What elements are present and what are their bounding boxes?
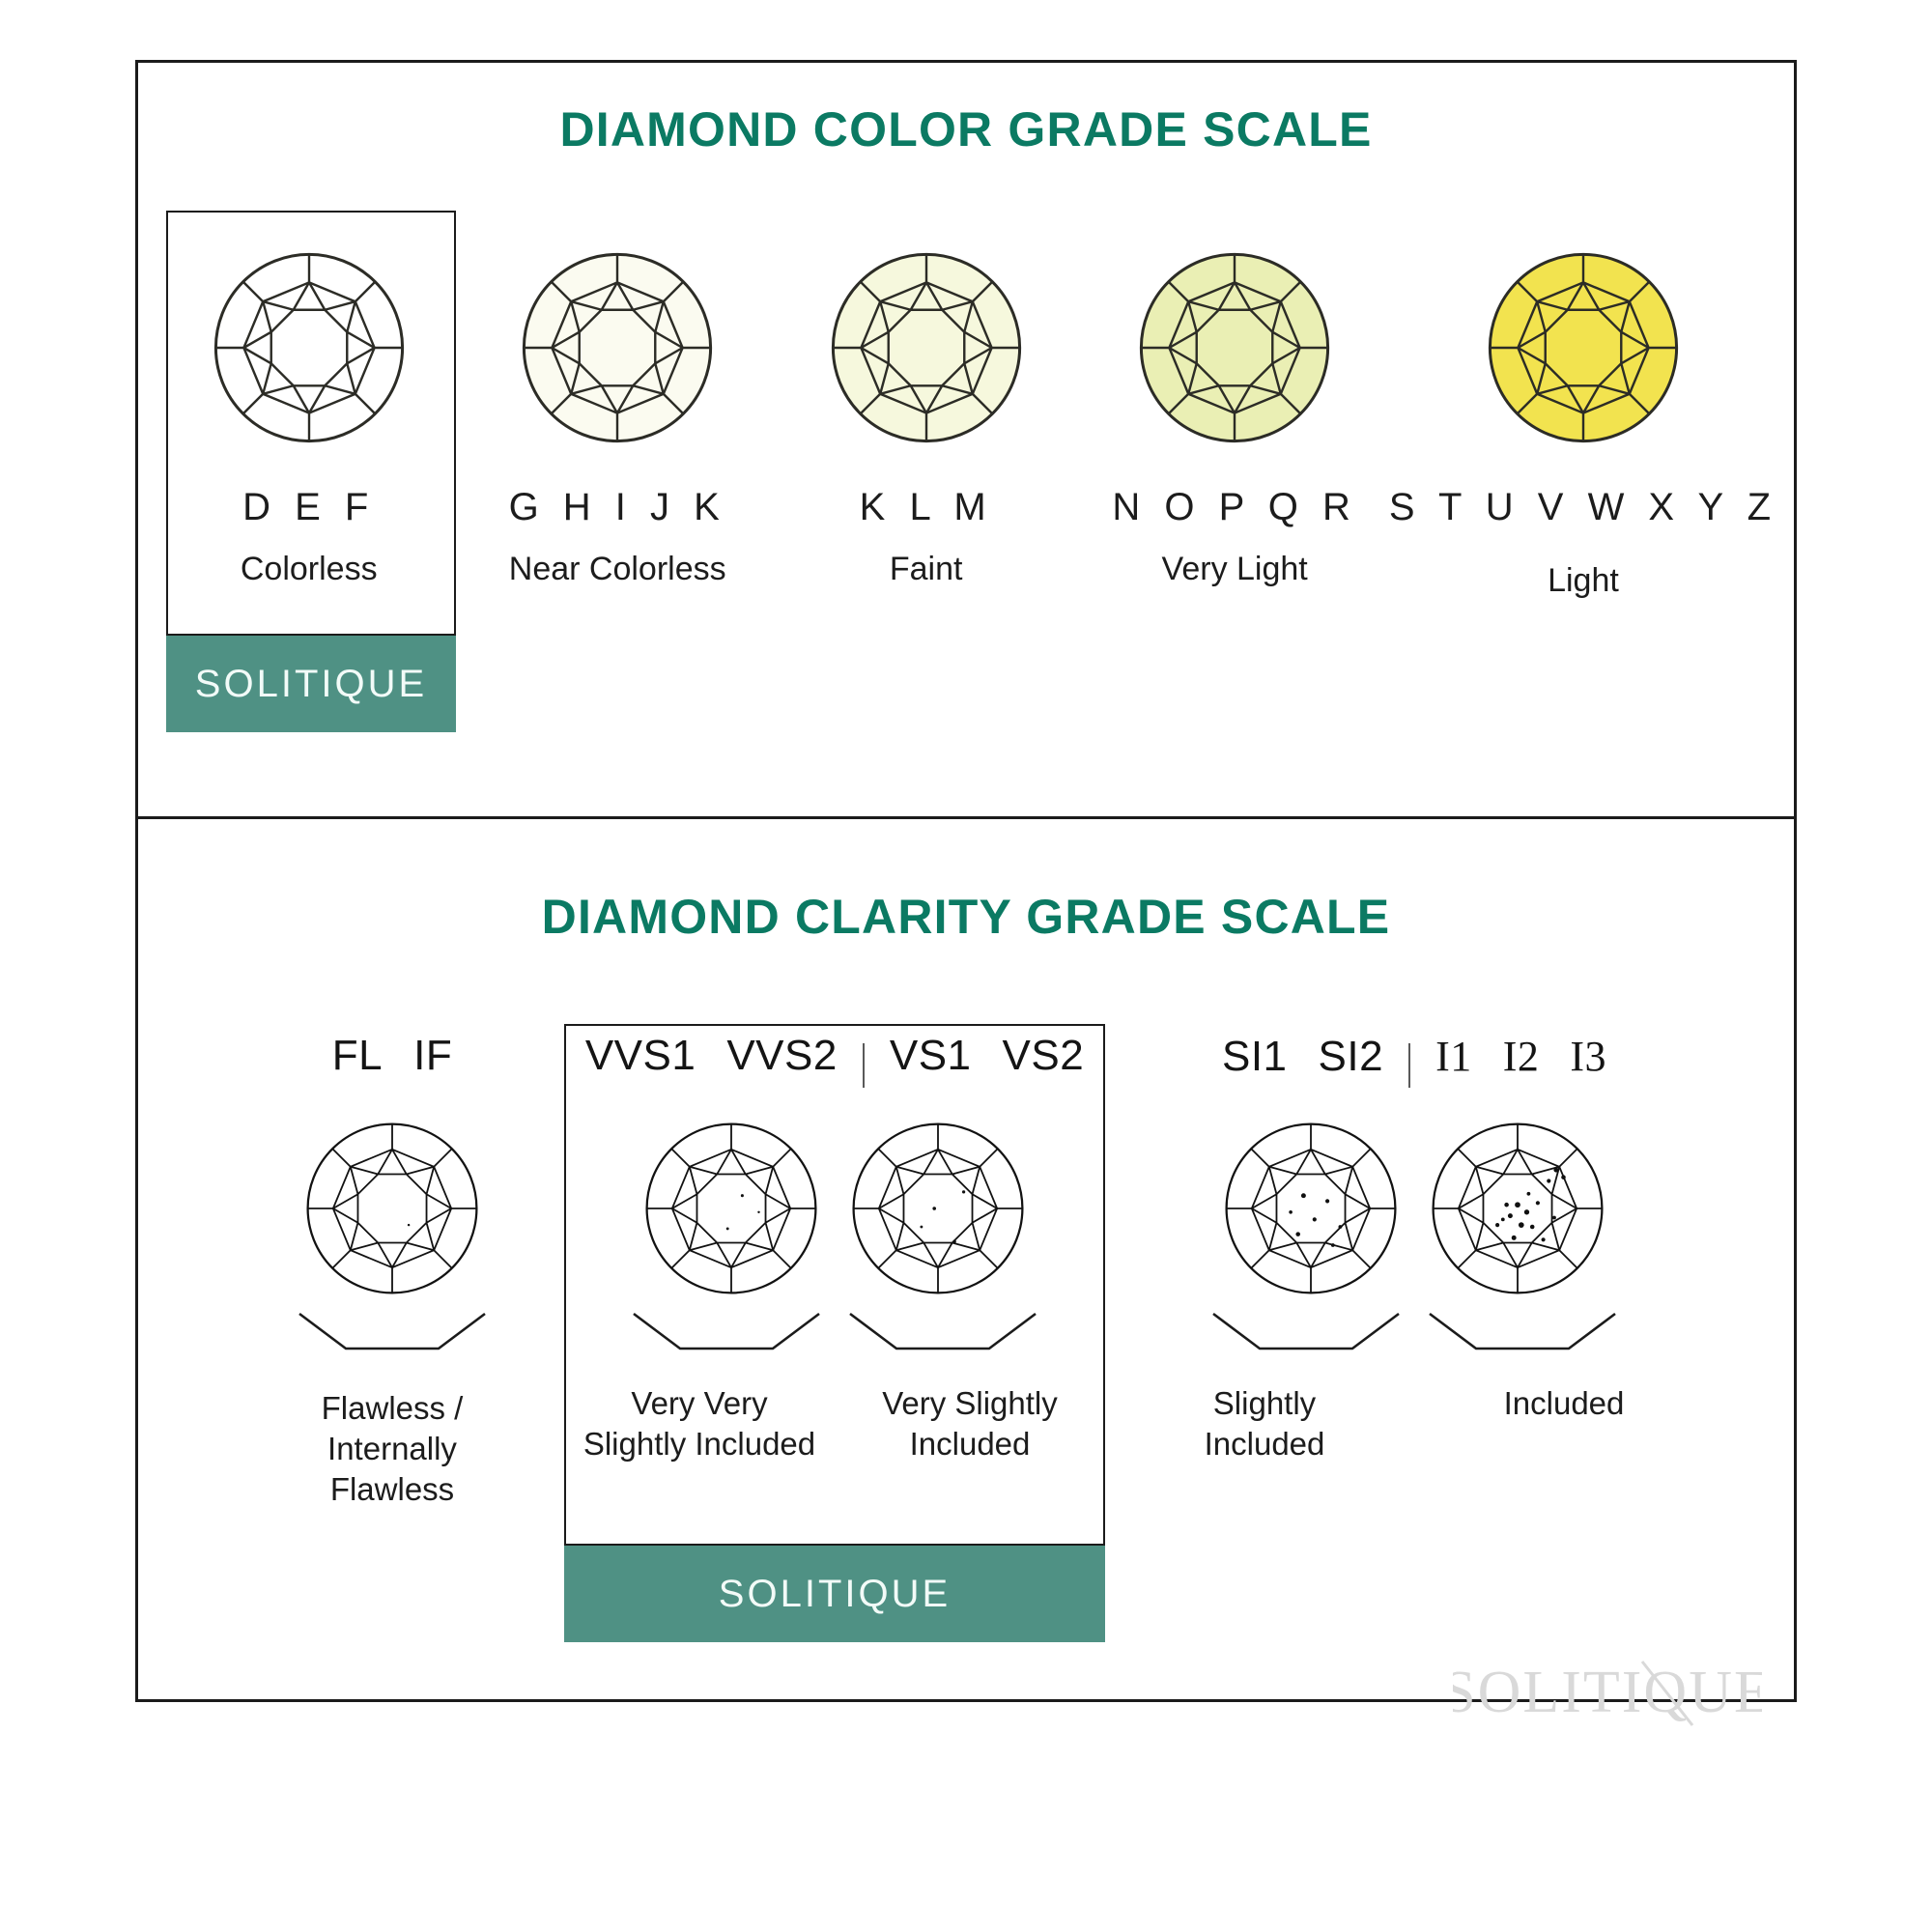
color-grade-letters: D E F: [242, 486, 375, 529]
clarity-label-vvs2: VVS2: [726, 1032, 838, 1080]
clarity-group-fl-if[interactable]: FL IF Flawless / Internally Flawless: [230, 1032, 554, 1511]
diamond-icon-i: [1426, 1117, 1609, 1300]
clarity-gems-fl-if: [289, 1117, 496, 1300]
clarity-section-title: DIAMOND CLARITY GRADE SCALE: [0, 889, 1932, 945]
color-solitique-badge: SOLITIQUE: [166, 636, 456, 732]
clarity-caption-i: Included: [1420, 1383, 1708, 1464]
bracket-si-i: [1209, 1310, 1619, 1354]
diamond-icon-si: [1219, 1117, 1403, 1300]
color-grade-caption: Colorless: [241, 551, 378, 588]
label-separator: [1408, 1043, 1410, 1088]
clarity-label-vvs1: VVS1: [585, 1032, 696, 1080]
infographic-page: DIAMOND COLOR GRADE SCALE D E F Colorles…: [0, 0, 1932, 1932]
color-grade-caption: Very Light: [1162, 551, 1308, 588]
diamond-icon-stuvwxyz: [1482, 246, 1685, 449]
color-grade-letters: G H I J K: [509, 486, 726, 529]
clarity-labels-fl-if: FL IF: [317, 1032, 468, 1099]
clarity-labels-si-i: SI1 SI2 I1 I2 I3: [1207, 1032, 1622, 1099]
color-grade-letters: K L M: [860, 486, 993, 529]
color-grade-klm[interactable]: K L M Faint: [772, 198, 1080, 588]
clarity-label-i1: I1: [1435, 1032, 1472, 1081]
diamond-icon-ghijk: [516, 246, 719, 449]
color-grade-stuvwxyz[interactable]: S T U V W X Y Z Light: [1389, 198, 1777, 600]
diamond-icon-klm: [825, 246, 1028, 449]
clarity-caption-si: Slightly Included: [1121, 1383, 1408, 1464]
label-separator: [863, 1043, 865, 1088]
clarity-label-if: IF: [413, 1032, 452, 1080]
clarity-label-vs1: VS1: [890, 1032, 972, 1080]
color-grade-def[interactable]: D E F Colorless: [155, 198, 463, 588]
clarity-label-si1: SI1: [1222, 1033, 1288, 1081]
clarity-caption-vvs: Very Very Slightly Included: [570, 1383, 830, 1464]
color-grade-nopqr[interactable]: N O P Q R Very Light: [1080, 198, 1388, 588]
clarity-label-vs2: VS2: [1003, 1032, 1085, 1080]
clarity-label-si2: SI2: [1319, 1033, 1384, 1081]
clarity-labels-vvs-vs: VVS1 VVS2 VS1 VS2: [570, 1032, 1099, 1099]
clarity-label-fl: FL: [332, 1032, 383, 1080]
clarity-caption-fl-if: Flawless / Internally Flawless: [322, 1388, 464, 1511]
diamond-icon-fl-if: [300, 1117, 484, 1300]
color-grade-row: D E F Colorless G H I J K Near Colorless…: [155, 198, 1777, 613]
diamond-icon-vvs: [639, 1117, 823, 1300]
color-grade-caption: Faint: [890, 551, 963, 588]
color-grade-caption: Near Colorless: [509, 551, 726, 588]
clarity-gems-si-i: [1207, 1117, 1621, 1300]
diamond-icon-nopqr: [1133, 246, 1336, 449]
color-grade-letters: N O P Q R: [1112, 486, 1356, 529]
color-grade-ghijk[interactable]: G H I J K Near Colorless: [463, 198, 771, 588]
svg-text:SOLITIQUE: SOLITIQUE: [1453, 1660, 1762, 1725]
diamond-icon-def: [208, 246, 411, 449]
color-section-title: DIAMOND COLOR GRADE SCALE: [0, 101, 1932, 157]
section-divider: [135, 816, 1797, 819]
clarity-caption-vs: Very Slightly Included: [840, 1383, 1100, 1464]
solitique-logo-watermark: SOLITIQUE: [1453, 1636, 1762, 1743]
color-grade-letters: S T U V W X Y Z: [1389, 486, 1777, 529]
clarity-solitique-badge: SOLITIQUE: [564, 1546, 1105, 1642]
clarity-label-i2: I2: [1503, 1032, 1540, 1081]
diamond-icon-vs: [846, 1117, 1030, 1300]
clarity-label-i3: I3: [1570, 1032, 1606, 1081]
clarity-group-vvs-vs[interactable]: VVS1 VVS2 VS1 VS2: [564, 1032, 1105, 1464]
clarity-gems-vvs-vs: [628, 1117, 1041, 1300]
color-grade-caption: Light: [1548, 562, 1619, 600]
bracket-vvs-vs: [630, 1310, 1039, 1354]
bracket-fl-if: [296, 1310, 489, 1359]
clarity-group-si-i[interactable]: SI1 SI2 I1 I2 I3: [1115, 1032, 1714, 1464]
